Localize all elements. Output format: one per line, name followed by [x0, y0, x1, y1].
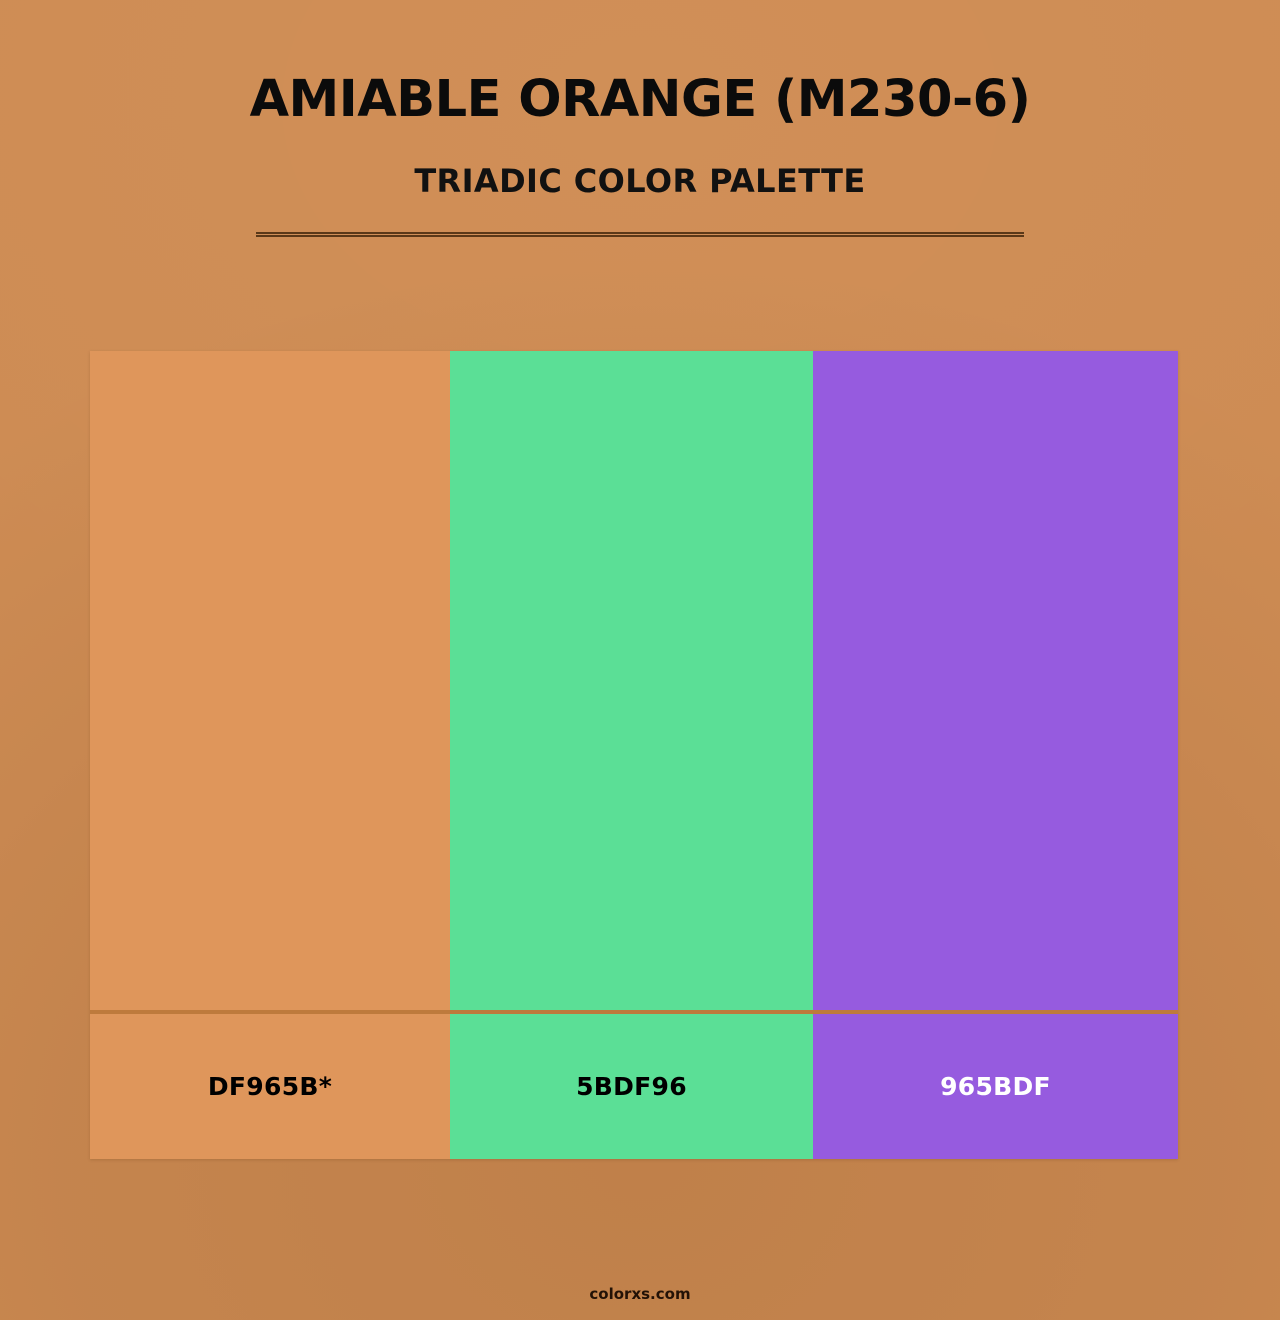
swatch-column-2[interactable]: 5BDF96 — [450, 351, 813, 1159]
page-subtitle: TRIADIC COLOR PALETTE — [0, 165, 1280, 197]
swatch-color-block-2[interactable] — [450, 351, 813, 1010]
palette-swatch-panel: DF965B* 5BDF96 965BDF — [90, 351, 1178, 1159]
header-divider — [256, 232, 1024, 237]
swatch-color-block-1[interactable] — [90, 351, 450, 1010]
swatch-label-strip-3[interactable]: 965BDF — [813, 1014, 1178, 1159]
page-title: AMIABLE ORANGE (M230-6) — [0, 74, 1280, 125]
color-palette-page: AMIABLE ORANGE (M230-6) TRIADIC COLOR PA… — [0, 0, 1280, 1320]
swatch-hex-label-1: DF965B* — [208, 1074, 332, 1099]
divider-rule-bottom — [256, 235, 1024, 237]
swatch-label-strip-2[interactable]: 5BDF96 — [450, 1014, 813, 1159]
site-credit: colorxs.com — [0, 1287, 1280, 1302]
swatch-color-block-3[interactable] — [813, 351, 1178, 1010]
swatch-label-strip-1[interactable]: DF965B* — [90, 1014, 450, 1159]
swatch-hex-label-3: 965BDF — [940, 1074, 1051, 1099]
divider-rule-top — [256, 232, 1024, 234]
swatch-column-1[interactable]: DF965B* — [90, 351, 450, 1159]
swatch-column-3[interactable]: 965BDF — [813, 351, 1178, 1159]
swatch-hex-label-2: 5BDF96 — [576, 1074, 687, 1099]
